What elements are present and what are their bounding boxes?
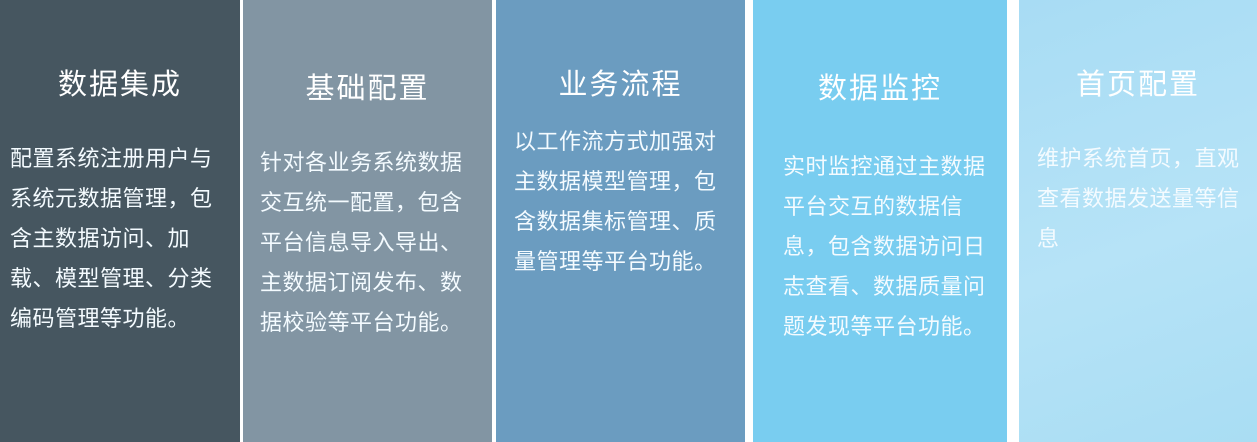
feature-card-description: 维护系统首页，直观查看数据发送量等信息	[1037, 139, 1247, 259]
feature-card-data-monitoring[interactable]: 数据监控 实时监控通过主数据平台交互的数据信息，包含数据访问日志查看、数据质量问…	[753, 0, 1007, 442]
feature-card-description: 配置系统注册用户与系统元数据管理，包含主数据访问、加载、模型管理、分类编码管理等…	[10, 139, 234, 339]
feature-card-title: 首页配置	[1019, 68, 1257, 102]
feature-card-description: 实时监控通过主数据平台交互的数据信息，包含数据访问日志查看、数据质量问题发现等平…	[783, 147, 999, 347]
feature-card-homepage-configuration[interactable]: 首页配置 维护系统首页，直观查看数据发送量等信息	[1019, 0, 1257, 442]
feature-card-basic-configuration[interactable]: 基础配置 针对各业务系统数据交互统一配置，包含平台信息导入导出、主数据订阅发布、…	[243, 0, 492, 442]
feature-card-data-integration[interactable]: 数据集成 配置系统注册用户与系统元数据管理，包含主数据访问、加载、模型管理、分类…	[0, 0, 240, 442]
feature-card-title: 数据监控	[753, 72, 1007, 106]
feature-card-description: 以工作流方式加强对主数据模型管理，包含数据集标管理、质量管理等平台功能。	[514, 122, 735, 282]
feature-card-row: 数据集成 配置系统注册用户与系统元数据管理，包含主数据访问、加载、模型管理、分类…	[0, 0, 1257, 442]
feature-card-title: 数据集成	[0, 68, 240, 102]
feature-card-title: 基础配置	[243, 72, 492, 106]
feature-card-business-process[interactable]: 业务流程 以工作流方式加强对主数据模型管理，包含数据集标管理、质量管理等平台功能…	[496, 0, 745, 442]
feature-card-description: 针对各业务系统数据交互统一配置，包含平台信息导入导出、主数据订阅发布、数据校验等…	[260, 143, 482, 343]
feature-card-title: 业务流程	[496, 68, 745, 102]
